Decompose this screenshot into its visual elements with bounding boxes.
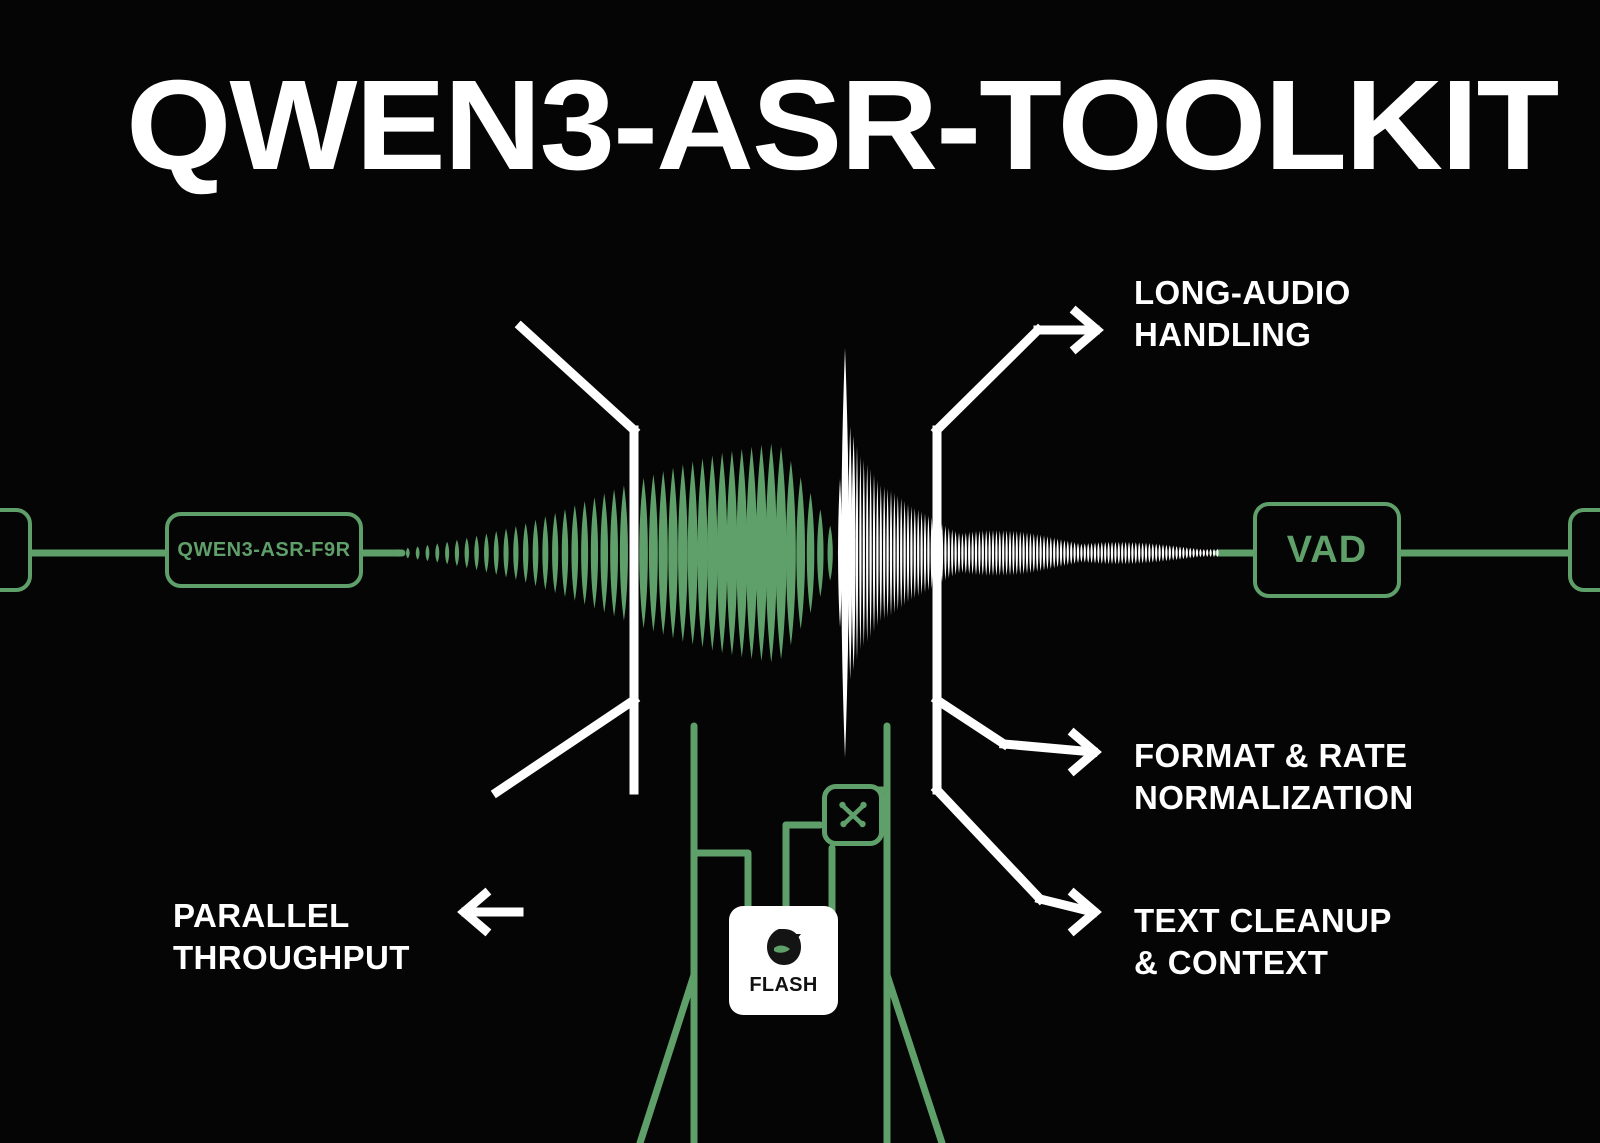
white-wave-lobe — [1056, 538, 1058, 567]
white-wave-lobe — [1152, 543, 1154, 562]
white-wave-lobe — [1002, 530, 1004, 575]
green-wave-lobe — [756, 445, 767, 661]
green-wave-lobe — [766, 444, 777, 663]
leader-run-format-rate — [1004, 744, 1093, 752]
green-wave-lobe — [639, 478, 648, 628]
white-wave-lobe — [1169, 545, 1171, 561]
white-wave-lobe — [1199, 549, 1201, 557]
white-wave-lobe — [1165, 545, 1167, 562]
leader-diag-downleft — [497, 700, 634, 792]
leader-diag-downright — [937, 700, 1004, 744]
white-wave-lobe — [1104, 542, 1106, 564]
white-wave-lobe — [1158, 544, 1160, 562]
white-wave-lobe — [1019, 531, 1021, 574]
white-wave-lobe — [944, 526, 946, 581]
green-wave-lobe — [727, 451, 738, 656]
white-wave-lobe — [1196, 548, 1198, 557]
green-wave-lobe — [668, 467, 677, 638]
white-wave-lobe — [1138, 542, 1140, 563]
white-wave-lobe — [1172, 546, 1174, 561]
green-wave-lobe — [659, 471, 668, 635]
leader-diag-upleft — [521, 327, 634, 430]
green-wave-lobe — [504, 528, 509, 577]
white-wave-lobe — [1077, 543, 1079, 563]
white-wave-lobe — [1087, 543, 1089, 563]
green-wave-lobe — [533, 520, 539, 587]
white-wave-lobe — [1009, 531, 1011, 576]
green-wave-lobe — [513, 526, 518, 580]
white-wave-transient-peak — [841, 348, 849, 758]
green-waveform — [396, 444, 842, 663]
white-wave-lobe — [1141, 543, 1143, 564]
green-wave-lobe — [484, 533, 489, 572]
white-wave-lobe — [1067, 541, 1069, 566]
green-wave-lobe — [426, 545, 430, 561]
white-wave-lobe — [900, 498, 902, 608]
white-wave-lobe — [859, 456, 861, 649]
green-wave-lobe — [465, 538, 469, 569]
white-wave-lobe — [1135, 542, 1137, 564]
green-wave-lobe — [523, 523, 528, 583]
callout-label-parallel: PARALLEL THROUGHPUT — [173, 895, 410, 978]
white-wave-lobe — [995, 530, 997, 576]
white-wave-lobe — [965, 532, 967, 573]
white-wave-lobe — [876, 480, 878, 626]
white-wave-lobe — [873, 474, 875, 632]
green-wave-lobe — [776, 447, 787, 660]
white-wave-lobe — [890, 491, 892, 616]
green-wave-lobe — [678, 464, 688, 642]
white-wave-lobe — [1114, 542, 1116, 565]
white-waveform — [838, 348, 1218, 758]
green-wave-lobe — [796, 477, 805, 629]
green-wave-lobe — [746, 447, 757, 660]
tool-node-c — [840, 821, 846, 827]
white-wave-lobe — [1209, 549, 1211, 557]
green-wave-lobe — [807, 493, 815, 614]
green-wave-lobe — [610, 489, 618, 616]
green-wave-lobe — [455, 540, 459, 567]
white-wave-lobe — [1043, 535, 1045, 570]
white-wave-lobe — [954, 531, 956, 575]
white-wave-lobe — [1179, 546, 1181, 559]
white-wave-lobe — [1186, 547, 1188, 559]
white-wave-lobe — [880, 485, 882, 621]
crossed-tools-icon — [835, 797, 871, 833]
white-wave-lobe — [975, 531, 977, 575]
green-wave-lobe — [494, 531, 499, 575]
trace-splay-right — [887, 975, 942, 1143]
white-wave-lobe — [856, 446, 858, 660]
green-wave-lobe — [736, 449, 747, 658]
white-wave-lobe — [910, 506, 912, 600]
white-wave-lobe — [924, 513, 926, 592]
green-wave-lobe — [562, 509, 568, 597]
edge-chip-left — [0, 508, 32, 592]
white-wave-lobe — [863, 460, 865, 646]
green-wave-lobe — [542, 516, 548, 590]
white-wave-lobe — [1050, 537, 1052, 569]
green-wave-lobe — [435, 543, 439, 562]
vad-chip-label: VAD — [1287, 529, 1367, 572]
leader-diag-downright2 — [937, 790, 1040, 899]
white-wave-lobe — [1063, 540, 1065, 566]
white-wave-lobe — [951, 529, 953, 576]
white-wave-lobe — [958, 532, 960, 573]
tool-chip — [822, 784, 884, 846]
white-wave-lobe — [897, 495, 899, 610]
white-wave-lobe — [848, 427, 852, 680]
green-wave-lobe — [406, 548, 410, 559]
white-wave-lobe — [992, 530, 994, 576]
white-wave-lobe — [1029, 533, 1031, 573]
flash-badge-label: FLASH — [749, 974, 817, 997]
white-wave-lobe — [1084, 543, 1086, 562]
white-wave-lobe — [948, 528, 950, 579]
white-wave-lobe — [1155, 544, 1157, 563]
green-wave-lobe — [786, 461, 796, 645]
white-wave-lobe — [971, 531, 973, 574]
green-wave-lobe — [581, 501, 588, 605]
white-wave-lobe — [1012, 531, 1014, 576]
white-wave-lobe — [927, 515, 929, 590]
white-wave-lobe — [907, 504, 909, 602]
white-wave-lobe — [1005, 530, 1007, 575]
green-wave-lobe — [591, 497, 598, 609]
white-wave-lobe — [982, 530, 984, 575]
white-wave-lobe — [1182, 547, 1184, 559]
white-wave-lobe — [1097, 542, 1099, 564]
white-wave-lobe — [1094, 542, 1096, 563]
white-wave-lobe — [1070, 541, 1072, 564]
white-wave-lobe — [999, 530, 1001, 575]
white-wave-lobe — [914, 508, 916, 598]
white-wave-lobe — [1189, 548, 1191, 559]
green-wave-lobe — [697, 458, 707, 647]
white-wave-lobe — [883, 487, 885, 620]
white-wave-lobe — [1073, 542, 1075, 564]
white-wave-lobe — [852, 436, 856, 671]
green-wave-lobe — [688, 461, 698, 645]
green-wave-lobe — [707, 455, 717, 650]
white-wave-lobe — [893, 493, 895, 613]
trace-splay-left — [640, 975, 694, 1143]
white-wave-lobe — [1162, 544, 1164, 561]
white-wave-lobe — [1118, 542, 1120, 565]
tool-node-a — [839, 802, 845, 808]
vad-chip: VAD — [1253, 502, 1401, 598]
white-wave-lobe — [1039, 535, 1041, 572]
white-wave-lobe — [903, 501, 905, 605]
white-wave-lobe — [968, 532, 970, 574]
flash-badge: FLASH — [729, 906, 838, 1015]
callout-label-long-audio: LONG-AUDIO HANDLING — [1134, 272, 1351, 355]
white-wave-lobe — [1128, 542, 1130, 564]
green-wave-lobe — [445, 542, 449, 565]
white-wave-lobe — [961, 533, 963, 573]
white-wave-lobe — [1131, 542, 1133, 564]
white-wave-lobe — [869, 469, 871, 638]
white-wave-lobe — [1111, 542, 1113, 565]
white-wave-lobe — [866, 464, 868, 642]
green-wave-lobe — [620, 485, 628, 620]
tool-node-d — [859, 821, 865, 827]
white-wave-lobe — [1145, 543, 1147, 563]
page-title: QWEN3-ASR-TOOLKIT — [126, 62, 1557, 190]
green-trace-group — [30, 553, 1572, 1143]
green-wave-lobe — [416, 546, 420, 560]
white-wave-lobe — [1080, 544, 1082, 563]
white-wave-lobe — [1175, 546, 1177, 560]
white-wave-lobe — [1203, 549, 1205, 557]
white-wave-lobe — [1121, 542, 1123, 565]
white-wave-lobe — [1148, 543, 1150, 563]
white-wave-lobe — [1206, 549, 1208, 557]
white-wave-lobe — [1124, 542, 1126, 564]
white-wave-lobe — [917, 510, 919, 597]
asr-chip: QWEN3-ASR-F9R — [165, 512, 363, 588]
white-wave-lobe — [1033, 533, 1035, 572]
white-wave-lobe — [988, 530, 990, 576]
edge-chip-right — [1568, 508, 1600, 592]
tool-node-b — [860, 802, 866, 808]
white-wave-lobe — [1053, 538, 1055, 569]
white-wave-lobe — [985, 530, 987, 576]
green-wave-lobe — [817, 509, 823, 596]
qwen-blob-logo-icon — [761, 924, 807, 970]
green-wave-lobe — [474, 536, 479, 571]
white-wave-lobe — [1107, 542, 1109, 564]
callout-label-format-rate: FORMAT & RATE NORMALIZATION — [1134, 735, 1414, 818]
white-wave-lobe — [1016, 531, 1018, 575]
green-wave-lobe — [649, 474, 658, 631]
green-wave-lobe — [717, 453, 727, 654]
white-wave-lobe — [1036, 534, 1038, 572]
white-wave-lobe — [920, 512, 922, 595]
white-wave-lobe — [1046, 536, 1048, 570]
white-wave-lobe — [886, 488, 888, 617]
green-wave-lobe — [828, 525, 833, 580]
white-wave-lobe — [1026, 532, 1028, 574]
white-wave-lobe — [1022, 532, 1024, 574]
white-wave-lobe — [1192, 548, 1194, 558]
poster-canvas: QWEN3-ASR-TOOLKIT LONG-AUDIO HANDLING FO… — [0, 0, 1600, 1143]
white-wave-lobe — [1213, 549, 1215, 557]
white-wave-lobe — [1060, 539, 1062, 567]
green-wave-lobe — [552, 513, 558, 594]
white-wave-lobe — [1090, 543, 1092, 564]
white-wave-lobe — [978, 531, 980, 576]
callout-label-text-cleanup: TEXT CLEANUP & CONTEXT — [1134, 900, 1392, 983]
green-wave-lobe — [571, 505, 578, 601]
white-wave-lobe — [1101, 542, 1103, 564]
green-wave-lobe — [600, 493, 608, 612]
leader-diag-upright — [937, 330, 1038, 430]
asr-chip-label: QWEN3-ASR-F9R — [177, 539, 350, 562]
